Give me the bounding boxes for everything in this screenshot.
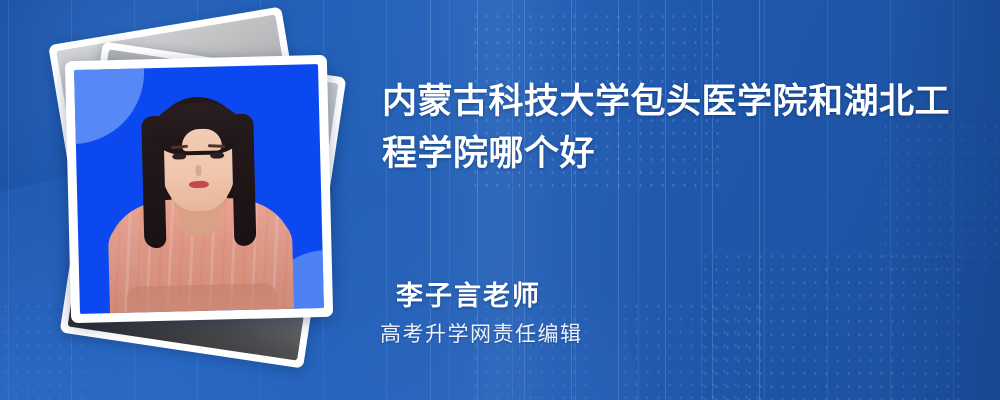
portrait-hair-fringe <box>151 102 244 156</box>
photo-card-stack <box>44 22 354 372</box>
portrait-eye-left <box>172 153 186 159</box>
author-portrait-photo <box>74 64 324 314</box>
author-name: 李子言老师 <box>396 274 541 313</box>
portrait-nose <box>195 165 201 176</box>
portrait-eye-right <box>210 152 224 158</box>
author-role: 高考升学网责任编辑 <box>380 318 583 348</box>
portrait-figure <box>92 86 307 313</box>
article-cover-banner: 内蒙古科技大学包头医学院和湖北工程学院哪个好 李子言老师 高考升学网责任编辑 <box>0 0 1000 400</box>
portrait-mouth <box>189 181 209 188</box>
banner-headline: 内蒙古科技大学包头医学院和湖北工程学院哪个好 <box>382 76 962 180</box>
banner-text-column: 内蒙古科技大学包头医学院和湖北工程学院哪个好 李子言老师 高考升学网责任编辑 <box>380 0 980 400</box>
photo-card-front <box>65 55 333 323</box>
portrait-dress-waist <box>126 283 277 313</box>
